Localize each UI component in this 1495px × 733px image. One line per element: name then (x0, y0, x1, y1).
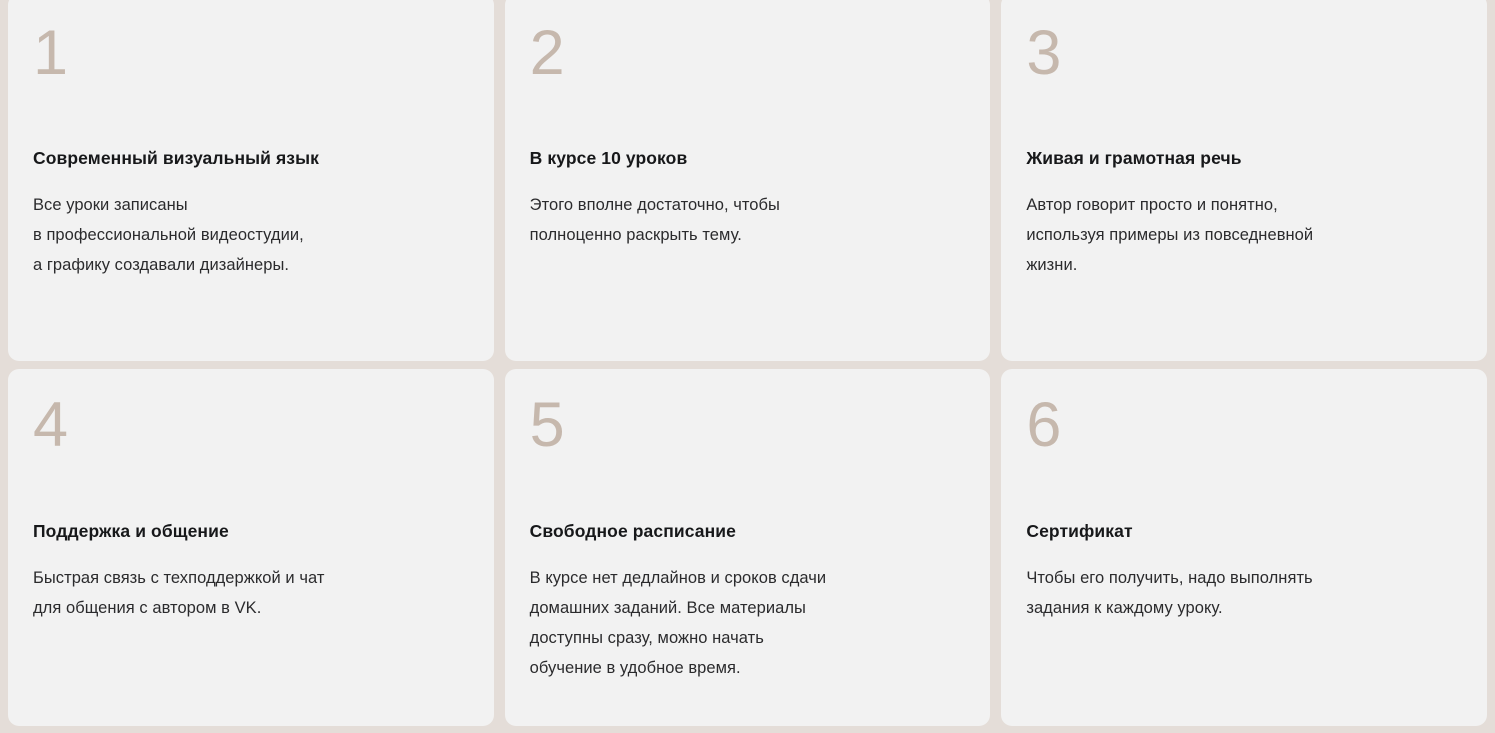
card-number-3: 3 (1026, 22, 1061, 85)
card-number-1: 1 (33, 22, 68, 85)
benefits-grid: 1 Современный визуальный язык Все уроки … (0, 0, 1495, 733)
benefit-card-4: 4 Поддержка и общение Быстрая связь с те… (8, 369, 494, 726)
card-title-5: Свободное расписание (530, 521, 973, 543)
card-title-1: Современный визуальный язык (33, 148, 476, 170)
card-title-6: Сертификат (1026, 521, 1469, 543)
card-number-2: 2 (530, 22, 565, 85)
card-number-4: 4 (33, 394, 68, 457)
benefit-card-2: 2 В курсе 10 уроков Этого вполне достато… (505, 0, 991, 361)
card-body-2: Этого вполне достаточно, чтобы полноценн… (530, 190, 977, 250)
card-body-1: Все уроки записаны в профессиональной ви… (33, 190, 480, 280)
card-title-4: Поддержка и общение (33, 521, 476, 543)
card-body-5: В курсе нет дедлайнов и сроков сдачи дом… (530, 563, 977, 683)
card-body-6: Чтобы его получить, надо выполнять задан… (1026, 563, 1473, 623)
card-body-4: Быстрая связь с техподдержкой и чат для … (33, 563, 480, 623)
benefit-card-1: 1 Современный визуальный язык Все уроки … (8, 0, 494, 361)
card-number-6: 6 (1026, 394, 1061, 457)
card-body-3: Автор говорит просто и понятно, использу… (1026, 190, 1473, 280)
card-title-2: В курсе 10 уроков (530, 148, 973, 170)
card-title-3: Живая и грамотная речь (1026, 148, 1469, 170)
card-number-5: 5 (530, 394, 565, 457)
benefit-card-5: 5 Свободное расписание В курсе нет дедла… (505, 369, 991, 726)
benefit-card-3: 3 Живая и грамотная речь Автор говорит п… (1001, 0, 1487, 361)
benefit-card-6: 6 Сертификат Чтобы его получить, надо вы… (1001, 369, 1487, 726)
